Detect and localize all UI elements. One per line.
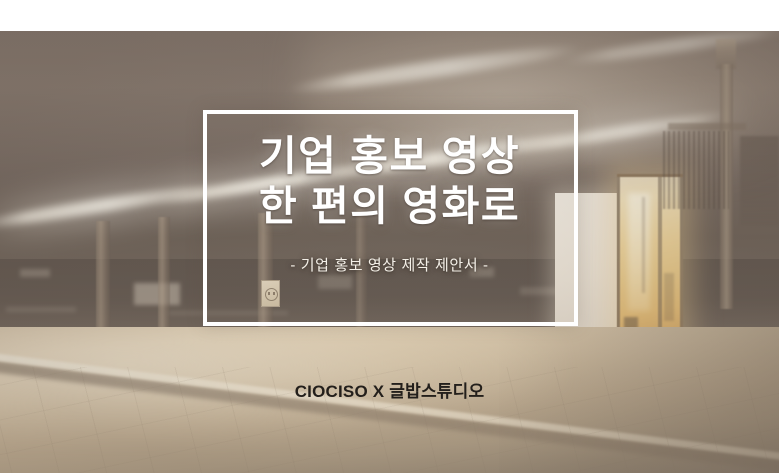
mast-cross-arm bbox=[668, 123, 746, 130]
shopfront-detail bbox=[664, 273, 674, 321]
title-text-block: 기업 홍보 영상 한 편의 영화로 - 기업 홍보 영상 제작 제안서 - bbox=[0, 131, 779, 275]
distant-window-light bbox=[134, 283, 180, 305]
credit-line: CIOCISO X 글밥스튜디오 bbox=[0, 377, 779, 402]
title-line-1: 기업 홍보 영상 bbox=[0, 131, 779, 181]
top-white-band bbox=[0, 0, 779, 31]
title-slide: 기업 홍보 영상 한 편의 영화로 - 기업 홍보 영상 제작 제안서 - CI… bbox=[0, 0, 779, 473]
distant-window-light bbox=[6, 307, 76, 312]
title-line-2: 한 편의 영화로 bbox=[0, 181, 779, 231]
subtitle: - 기업 홍보 영상 제작 제안서 - bbox=[0, 254, 779, 275]
